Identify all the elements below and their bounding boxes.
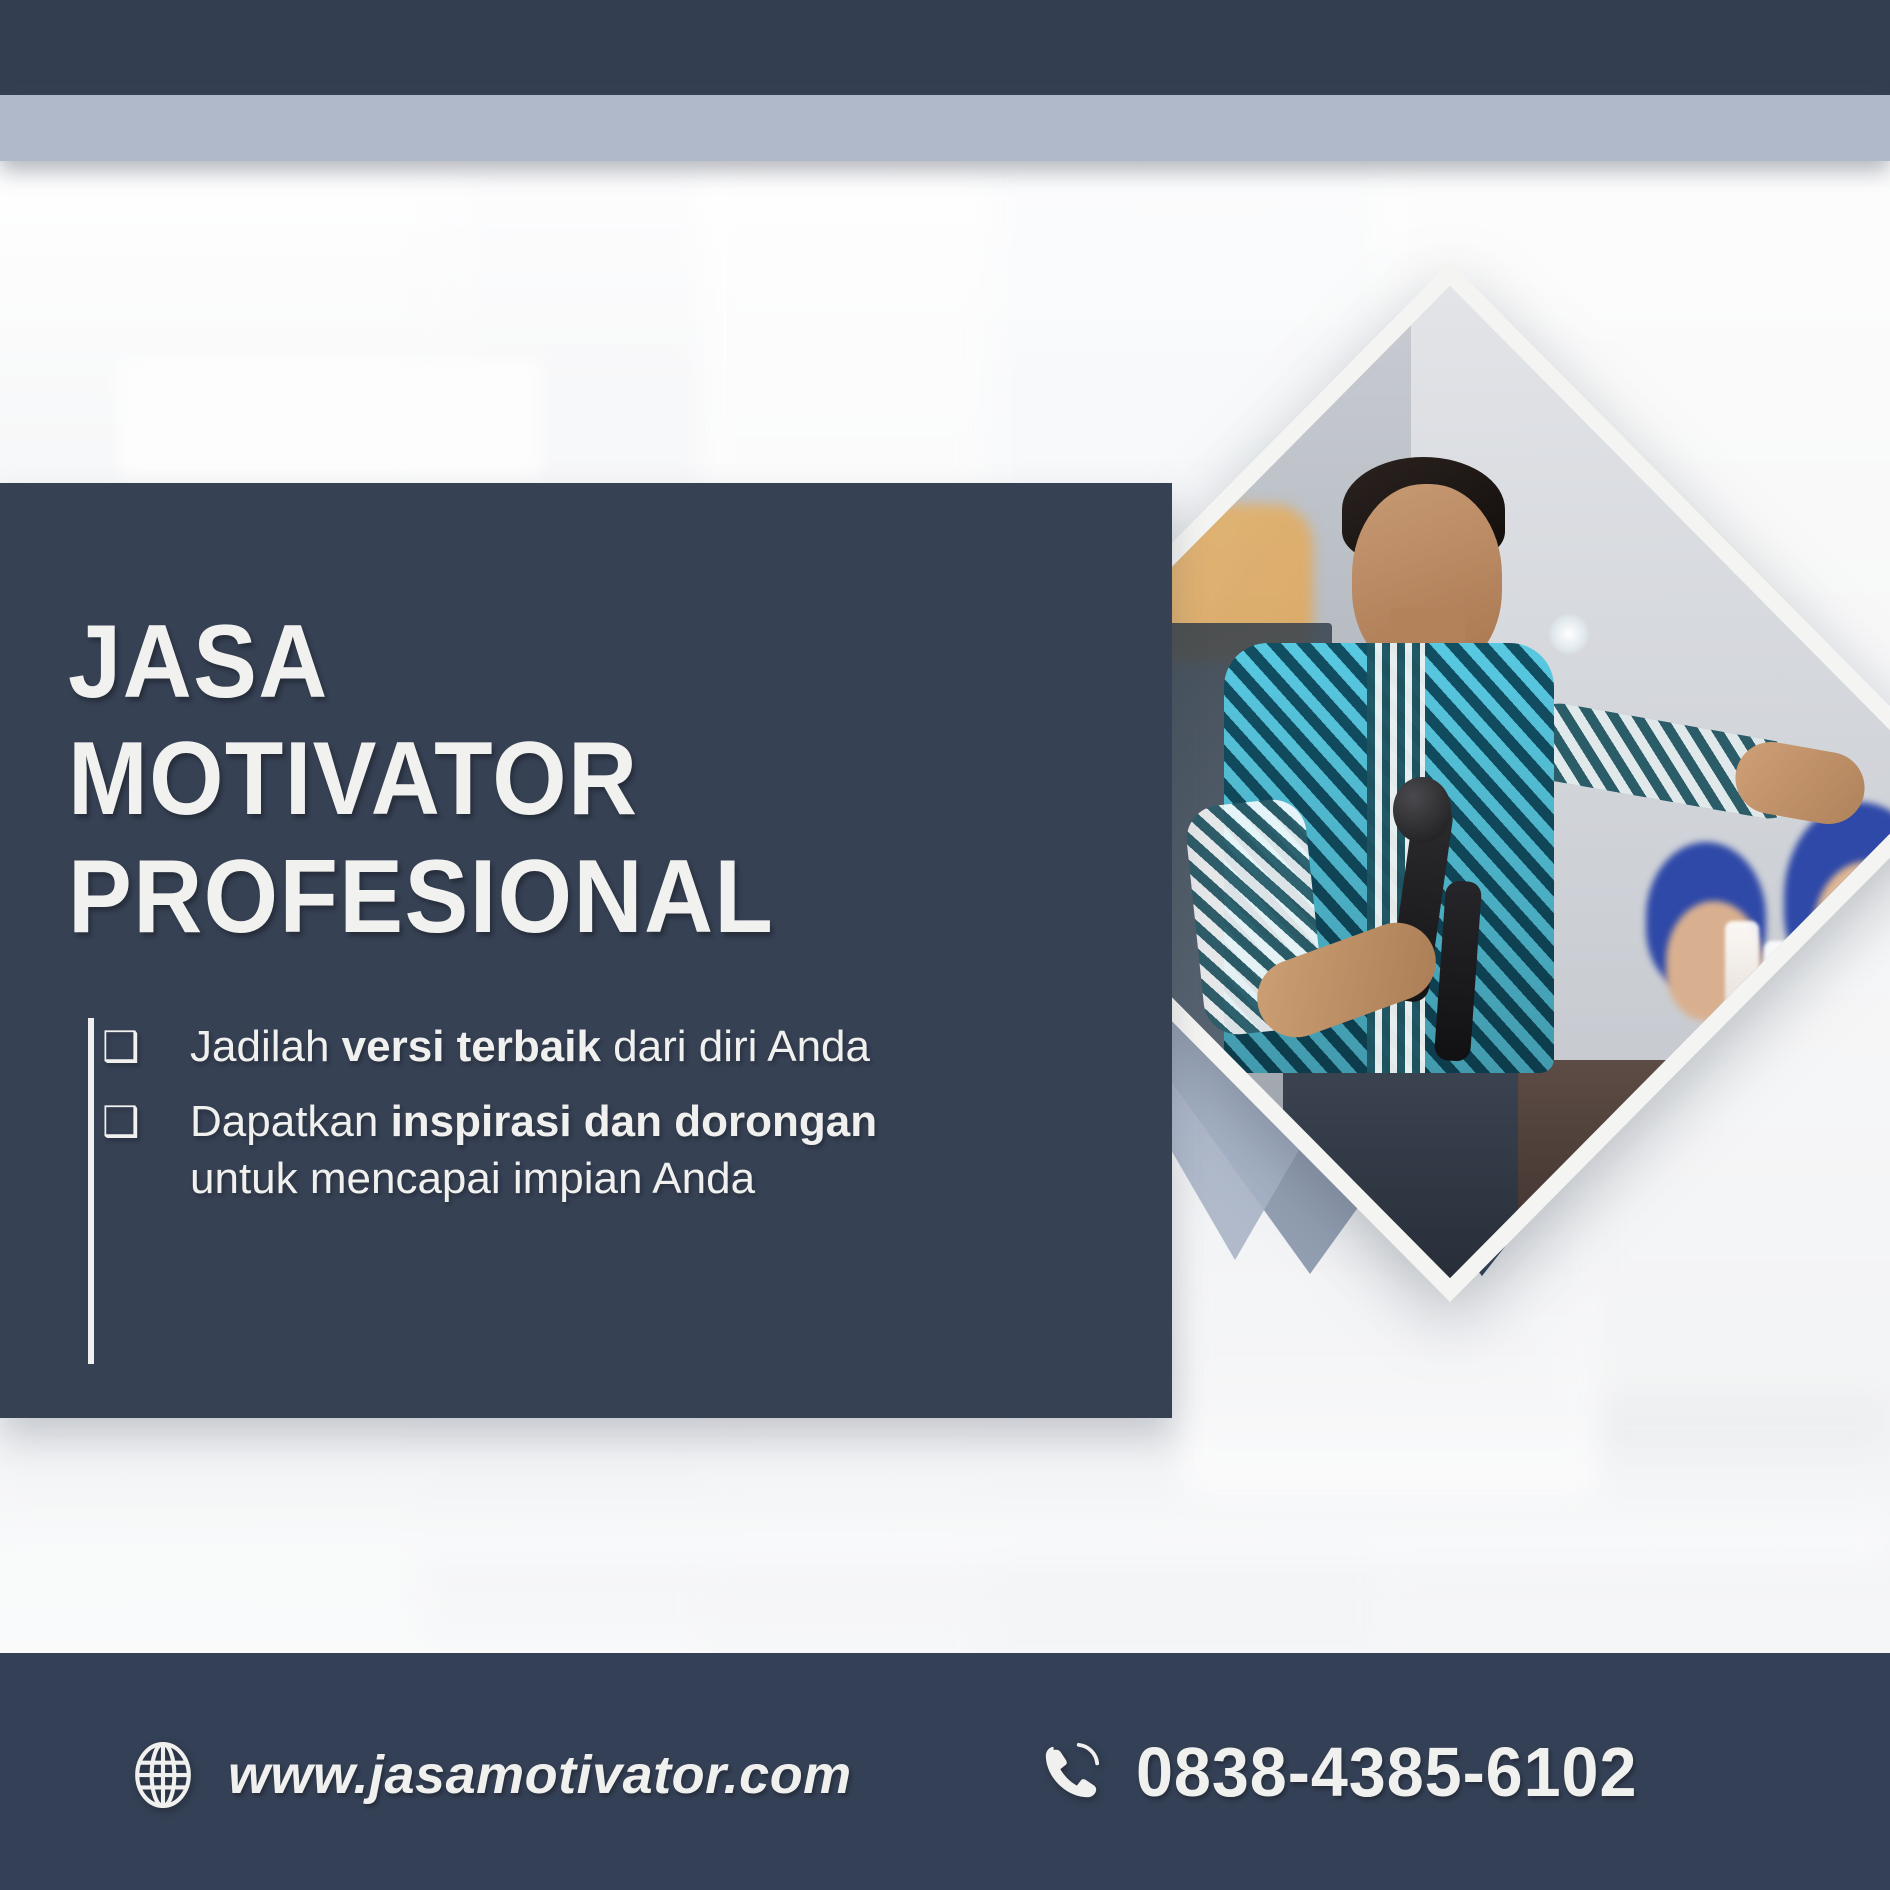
title-line-1: JASA [68,604,896,722]
website-url[interactable]: www.jasamotivator.com [228,1744,852,1806]
checkbox-icon: ❑ [146,1095,176,1150]
top-light-band [0,95,1890,161]
title-line-3: PROFESIONAL [68,839,896,957]
list-item-part: Dapatkan [190,1097,391,1146]
list-item: ❑Dapatkan inspirasi dan dorongan untuk m… [146,1093,878,1207]
globe-icon [130,1742,196,1808]
page-title: JASA MOTIVATOR PROFESIONAL [68,604,896,957]
list-item-part-bold: versi terbaik [342,1022,601,1071]
phone-icon [1040,1741,1102,1803]
benefits-list: ❑Jadilah versi terbaik dari diri Anda ❑D… [88,1018,878,1364]
phone-number[interactable]: 0838-4385-6102 [1136,1732,1637,1812]
list-item: ❑Jadilah versi terbaik dari diri Anda [146,1018,878,1075]
list-item-part-bold: inspirasi dan dorongan [391,1097,878,1146]
list-item-part: Jadilah [190,1022,342,1071]
title-line-2: MOTIVATOR [68,721,896,839]
top-dark-band [0,0,1890,95]
list-item-part: dari diri Anda [601,1022,870,1071]
list-item-part: untuk mencapai impian Anda [190,1154,755,1203]
phone-contact[interactable]: 0838-4385-6102 [1040,1732,1664,1812]
website-contact[interactable]: www.jasamotivator.com [130,1742,852,1808]
poster-canvas: JASA MOTIVATOR PROFESIONAL ❑Jadilah vers… [0,0,1890,1890]
checkbox-icon: ❑ [146,1020,176,1075]
